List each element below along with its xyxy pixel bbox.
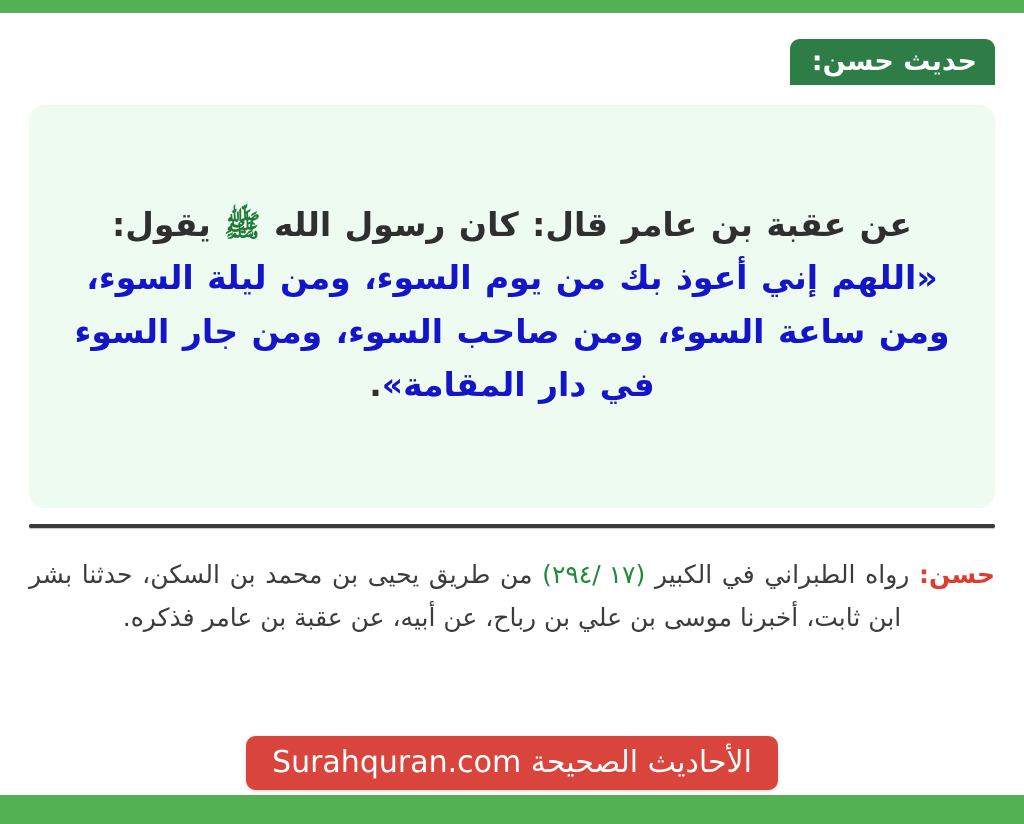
dua-text: «اللهم إني أعوذ بك من يوم السوء، ومن ليل… — [75, 258, 950, 404]
section-divider — [29, 524, 995, 528]
footer-arabic-label: الأحاديث الصحيحة — [531, 745, 752, 780]
hadith-card: حديث حسن: عن عقبة بن عامر قال: كان رسول … — [0, 0, 1024, 824]
attribution-grade-label: حسن: — [919, 560, 995, 589]
hadith-quote-box: عن عقبة بن عامر قال: كان رسول الله ﷺ يقو… — [29, 105, 995, 508]
footer-wrap: الأحاديث الصحيحة Surahquran.com — [0, 736, 1024, 790]
saying-verb: يقول: — [112, 205, 211, 244]
hadith-quote-text: عن عقبة بن عامر قال: كان رسول الله ﷺ يقو… — [63, 198, 961, 412]
narrator-intro: عن عقبة بن عامر قال: كان رسول الله — [274, 205, 912, 244]
attribution-reference: (١٧ /٢٩٤) — [542, 553, 645, 596]
hadith-attribution: حسن: رواه الطبراني في الكبير (١٧ /٢٩٤) م… — [29, 553, 995, 639]
quote-closing-punctuation: . — [369, 365, 382, 404]
site-footer-banner[interactable]: الأحاديث الصحيحة Surahquran.com — [246, 736, 778, 790]
badge-row: حديث حسن: — [0, 39, 995, 85]
card-body: حديث حسن: عن عقبة بن عامر قال: كان رسول … — [0, 13, 1024, 795]
bottom-accent-bar — [0, 795, 1024, 824]
hadith-grade-badge: حديث حسن: — [790, 39, 995, 85]
attribution-source-text: رواه الطبراني في الكبير — [655, 560, 909, 589]
top-accent-bar — [0, 0, 1024, 13]
sallallahu-alayhi-wasallam-icon: ﷺ — [224, 209, 260, 244]
footer-site-name: Surahquran.com — [272, 736, 521, 790]
